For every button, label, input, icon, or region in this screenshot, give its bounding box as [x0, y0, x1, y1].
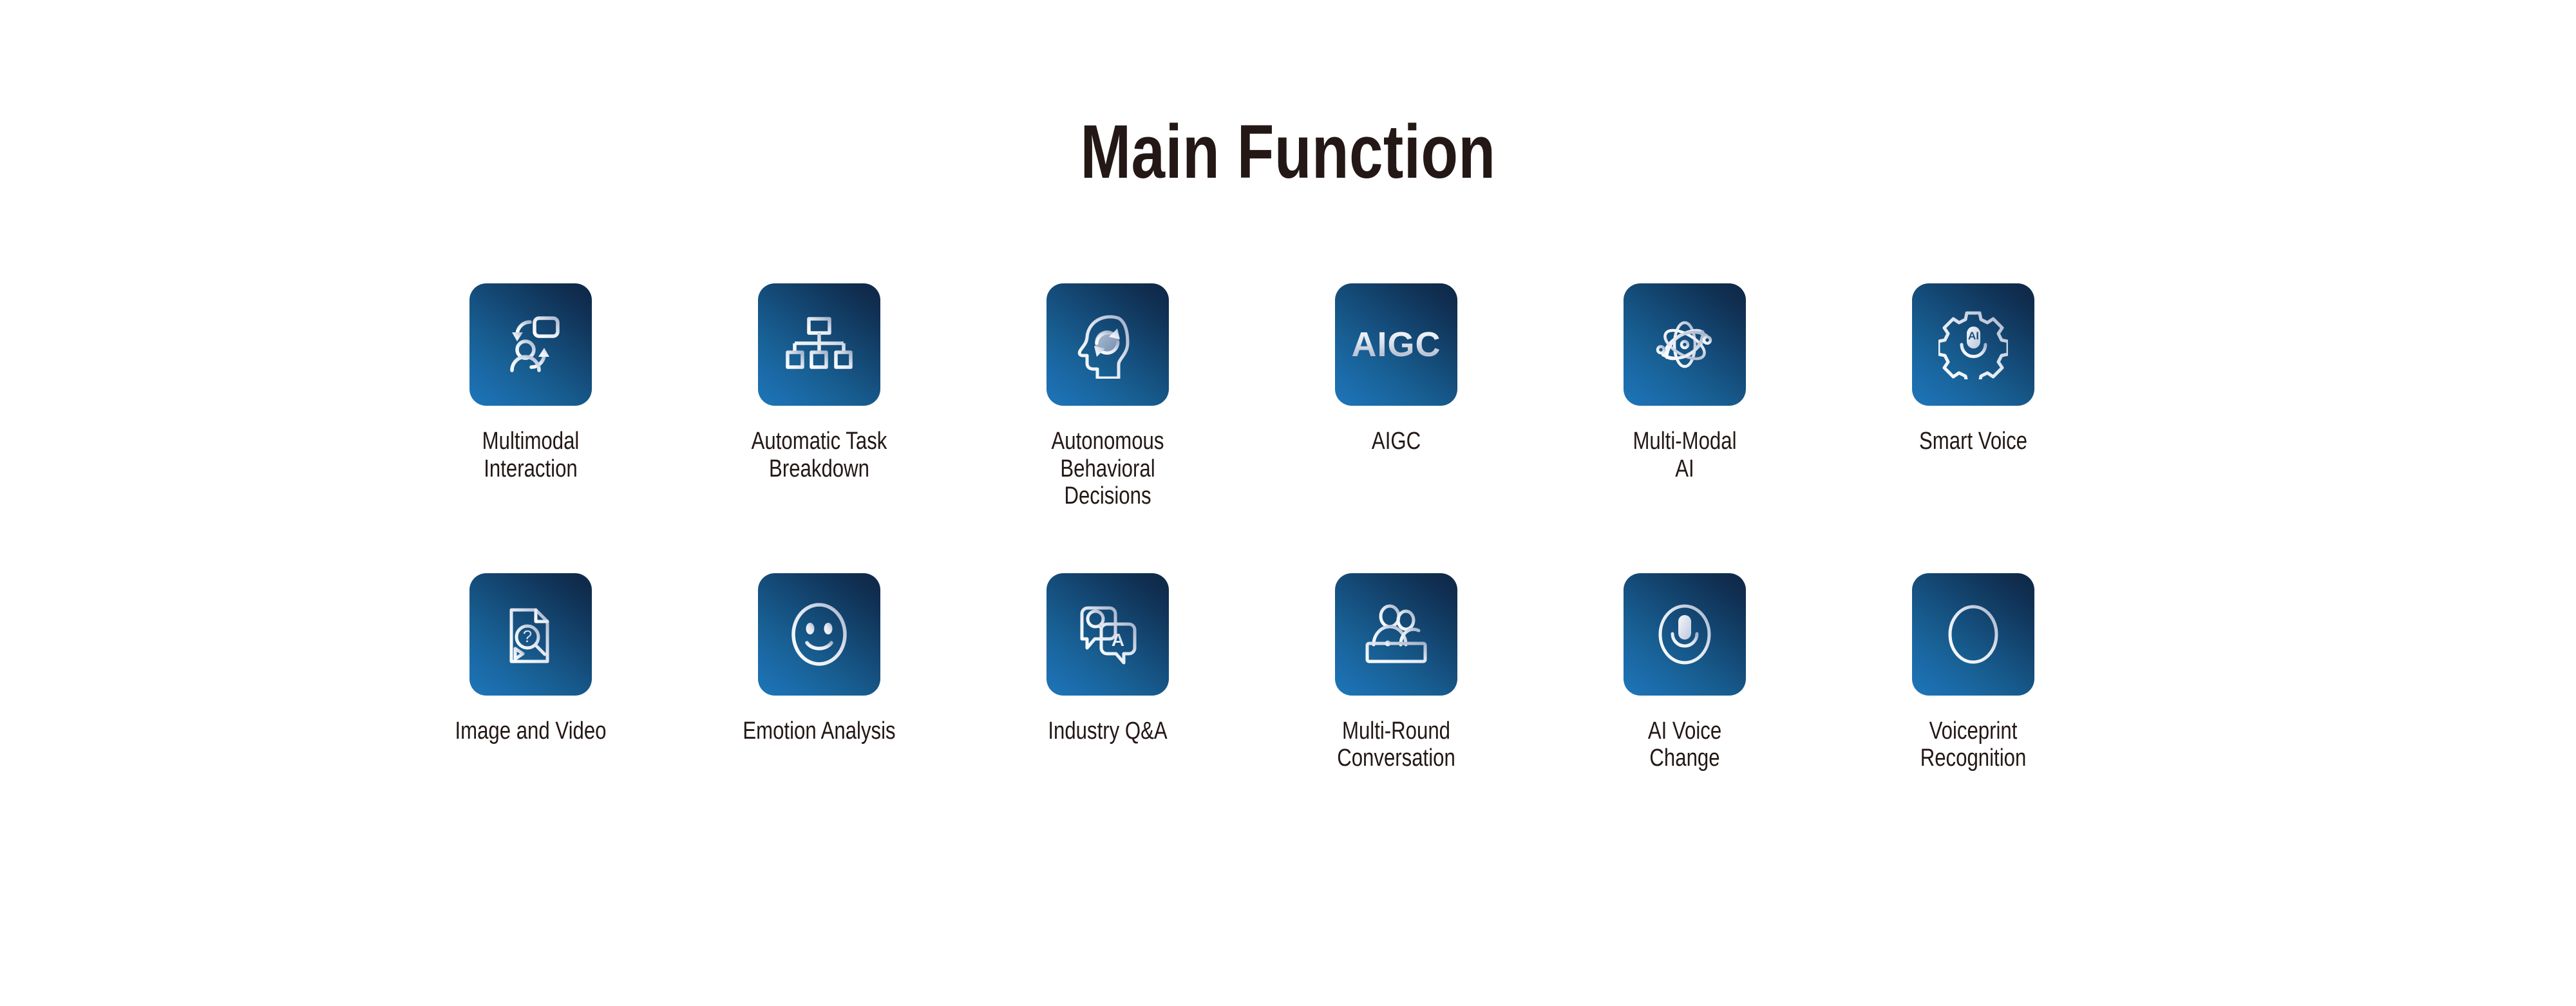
svg-text:AI: AI: [1968, 330, 1979, 342]
feature-label: Voiceprint Recognition: [1860, 717, 2087, 772]
feature-card-image-and-video[interactable]: ? Image and Video: [386, 573, 675, 745]
feature-card-smart-voice[interactable]: AI Smart Voice: [1829, 283, 2117, 455]
feature-card-aigc[interactable]: AIGC AIGC: [1252, 283, 1540, 455]
feature-card-ai-voice-change[interactable]: AI Voice Change: [1540, 573, 1829, 772]
feature-label: Industry Q&A: [994, 717, 1222, 745]
feature-label: Autonomous Behavioral Decisions: [994, 428, 1222, 510]
feature-card-emotion-analysis[interactable]: Emotion Analysis: [675, 573, 963, 745]
feature-card-autonomous-behavioral-decisions[interactable]: Autonomous Behavioral Decisions: [963, 283, 1252, 510]
feature-label: Image and Video: [417, 717, 645, 745]
multimodal-interaction-icon: [495, 309, 566, 380]
svg-text:?: ?: [523, 627, 532, 646]
icon-tile[interactable]: [1624, 573, 1746, 696]
qa-speech-bubbles-icon: A: [1073, 600, 1142, 669]
org-chart-icon: [786, 311, 853, 378]
icon-tile[interactable]: [758, 283, 880, 406]
icon-tile[interactable]: AI: [1912, 283, 2034, 406]
feature-label: AIGC: [1283, 428, 1510, 455]
voiceprint-waveform-icon: [1938, 599, 2009, 670]
feature-card-automatic-task-breakdown[interactable]: Automatic Task Breakdown: [675, 283, 963, 482]
icon-tile[interactable]: [1046, 283, 1169, 406]
feature-card-multi-modal-ai[interactable]: Multi-Modal AI: [1540, 283, 1829, 482]
icon-tile[interactable]: [758, 573, 880, 696]
gear-microphone-ai-icon: AI: [1938, 310, 2008, 379]
feature-card-multi-round-conversation[interactable]: Multi-Round Conversation: [1252, 573, 1540, 772]
feature-grid: Multimodal Interaction: [386, 283, 2190, 772]
icon-tile[interactable]: A: [1046, 573, 1169, 696]
icon-tile[interactable]: [1335, 573, 1457, 696]
feature-row-2: ? Image and Video: [386, 573, 2190, 772]
feature-label: Emotion Analysis: [706, 717, 933, 745]
document-search-video-icon: ?: [497, 601, 564, 668]
feature-card-multimodal-interaction[interactable]: Multimodal Interaction: [386, 283, 675, 482]
icon-tile[interactable]: AIGC: [1335, 283, 1457, 406]
feature-label: Automatic Task Breakdown: [706, 428, 933, 482]
people-podium-icon: [1361, 600, 1432, 669]
feature-label: Multi-Modal AI: [1571, 428, 1799, 482]
aigc-wordmark-icon: AIGC: [1352, 327, 1441, 362]
main-function-page: Main Function: [0, 0, 2576, 1006]
feature-label: Multi-Round Conversation: [1283, 717, 1510, 772]
feature-label: AI Voice Change: [1571, 717, 1799, 772]
microphone-circle-icon: [1649, 599, 1720, 670]
feature-label: Smart Voice: [1860, 428, 2087, 455]
page-title: Main Function: [258, 108, 2318, 196]
feature-card-industry-qa[interactable]: A Industry Q&A: [963, 573, 1252, 745]
atom-icon: [1649, 308, 1721, 381]
feature-label: Multimodal Interaction: [417, 428, 645, 482]
smiley-face-icon: [784, 599, 855, 670]
feature-card-voiceprint-recognition[interactable]: Voiceprint Recognition: [1829, 573, 2117, 772]
icon-tile[interactable]: [1624, 283, 1746, 406]
icon-tile[interactable]: [1912, 573, 2034, 696]
svg-text:A: A: [1112, 630, 1124, 650]
feature-row-1: Multimodal Interaction: [386, 283, 2190, 510]
icon-tile[interactable]: [469, 283, 592, 406]
icon-tile[interactable]: ?: [469, 573, 592, 696]
head-refresh-icon: [1074, 310, 1142, 379]
